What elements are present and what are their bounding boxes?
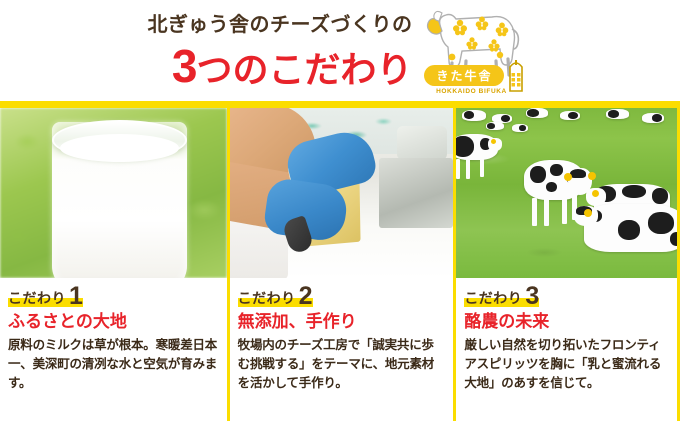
feature-body-2: 牧場内のチーズ工房で「誠実共に歩む挑戦する」をテーマに、地元素材を活かして手作り… <box>238 336 446 393</box>
kodawari-label: こだわり <box>8 291 66 307</box>
feature-heading-3: 酪農の未来 <box>464 312 669 332</box>
page-title: 3 つのこだわり <box>172 43 413 89</box>
brand-logo: きた牛舎 HOKKAIDO BIFUKA <box>422 3 532 99</box>
kodawari-number: 3 <box>525 286 539 307</box>
cheese-making-photo <box>230 108 454 278</box>
feature-text-2: こだわり 2 無添加、手作り 牧場内のチーズ工房で「誠実共に歩む挑戦する」をテー… <box>230 278 454 421</box>
header-divider-bar <box>0 101 680 108</box>
kodawari-number: 2 <box>299 286 313 307</box>
page-subtitle: 北ぎゅう舎のチーズづくりの <box>148 13 413 37</box>
milk-surface <box>60 134 179 162</box>
feature-text-1: こだわり 1 ふるさとの大地 原料のミルクは草が根本。寒暖差日本一、美深町の清冽… <box>0 278 227 421</box>
feature-column-1: こだわり 1 ふるさとの大地 原料のミルクは草が根本。寒暖差日本一、美深町の清冽… <box>0 108 227 421</box>
kodawari-badge-1: こだわり 1 <box>8 286 83 307</box>
feature-heading-1: ふるさとの大地 <box>8 312 219 332</box>
kodawari-badge-3: こだわり 3 <box>464 286 539 307</box>
kodawari-number: 1 <box>69 286 83 307</box>
equipment-back <box>397 126 447 160</box>
feature-heading-2: 無添加、手作り <box>238 312 446 332</box>
title-rest: つのこだわり <box>196 52 412 88</box>
feature-text-3: こだわり 3 酪農の未来 厳しい自然を切り拓いたフロンティアスピリッツを胸に「乳… <box>456 278 677 421</box>
feature-body-1: 原料のミルクは草が根本。寒暖差日本一、美深町の清冽な水と空気が育みます。 <box>8 336 219 393</box>
logo-subtitle: HOKKAIDO BIFUKA <box>422 88 520 95</box>
feature-column-3: こだわり 3 酪農の未来 厳しい自然を切り拓いたフロンティアスピリッツを胸に「乳… <box>453 108 680 421</box>
kodawari-label: こだわり <box>464 291 522 307</box>
logo-name: きた牛舎 <box>436 67 492 84</box>
title-number: 3 <box>172 43 197 89</box>
header-title-group: 北ぎゅう舎のチーズづくりの 3 つのこだわり <box>148 13 413 89</box>
feature-body-3: 厳しい自然を切り拓いたフロンティアスピリッツを胸に「乳と蜜流れる大地」のあすを信… <box>464 336 669 393</box>
features-columns: こだわり 1 ふるさとの大地 原料のミルクは草が根本。寒暖差日本一、美深町の清冽… <box>0 108 680 421</box>
cows-pasture-photo <box>456 108 677 278</box>
milk-glass-photo <box>0 108 227 278</box>
page-header: 北ぎゅう舎のチーズづくりの 3 つのこだわり <box>0 0 680 101</box>
logo-name-pill: きた牛舎 <box>424 65 504 86</box>
promo-page: 北ぎゅう舎のチーズづくりの 3 つのこだわり <box>0 0 680 421</box>
feature-column-2: こだわり 2 無添加、手作り 牧場内のチーズ工房で「誠実共に歩む挑戦する」をテー… <box>227 108 454 421</box>
kodawari-label: こだわり <box>238 291 296 307</box>
kodawari-badge-2: こだわり 2 <box>238 286 313 307</box>
equipment-right <box>379 158 453 228</box>
